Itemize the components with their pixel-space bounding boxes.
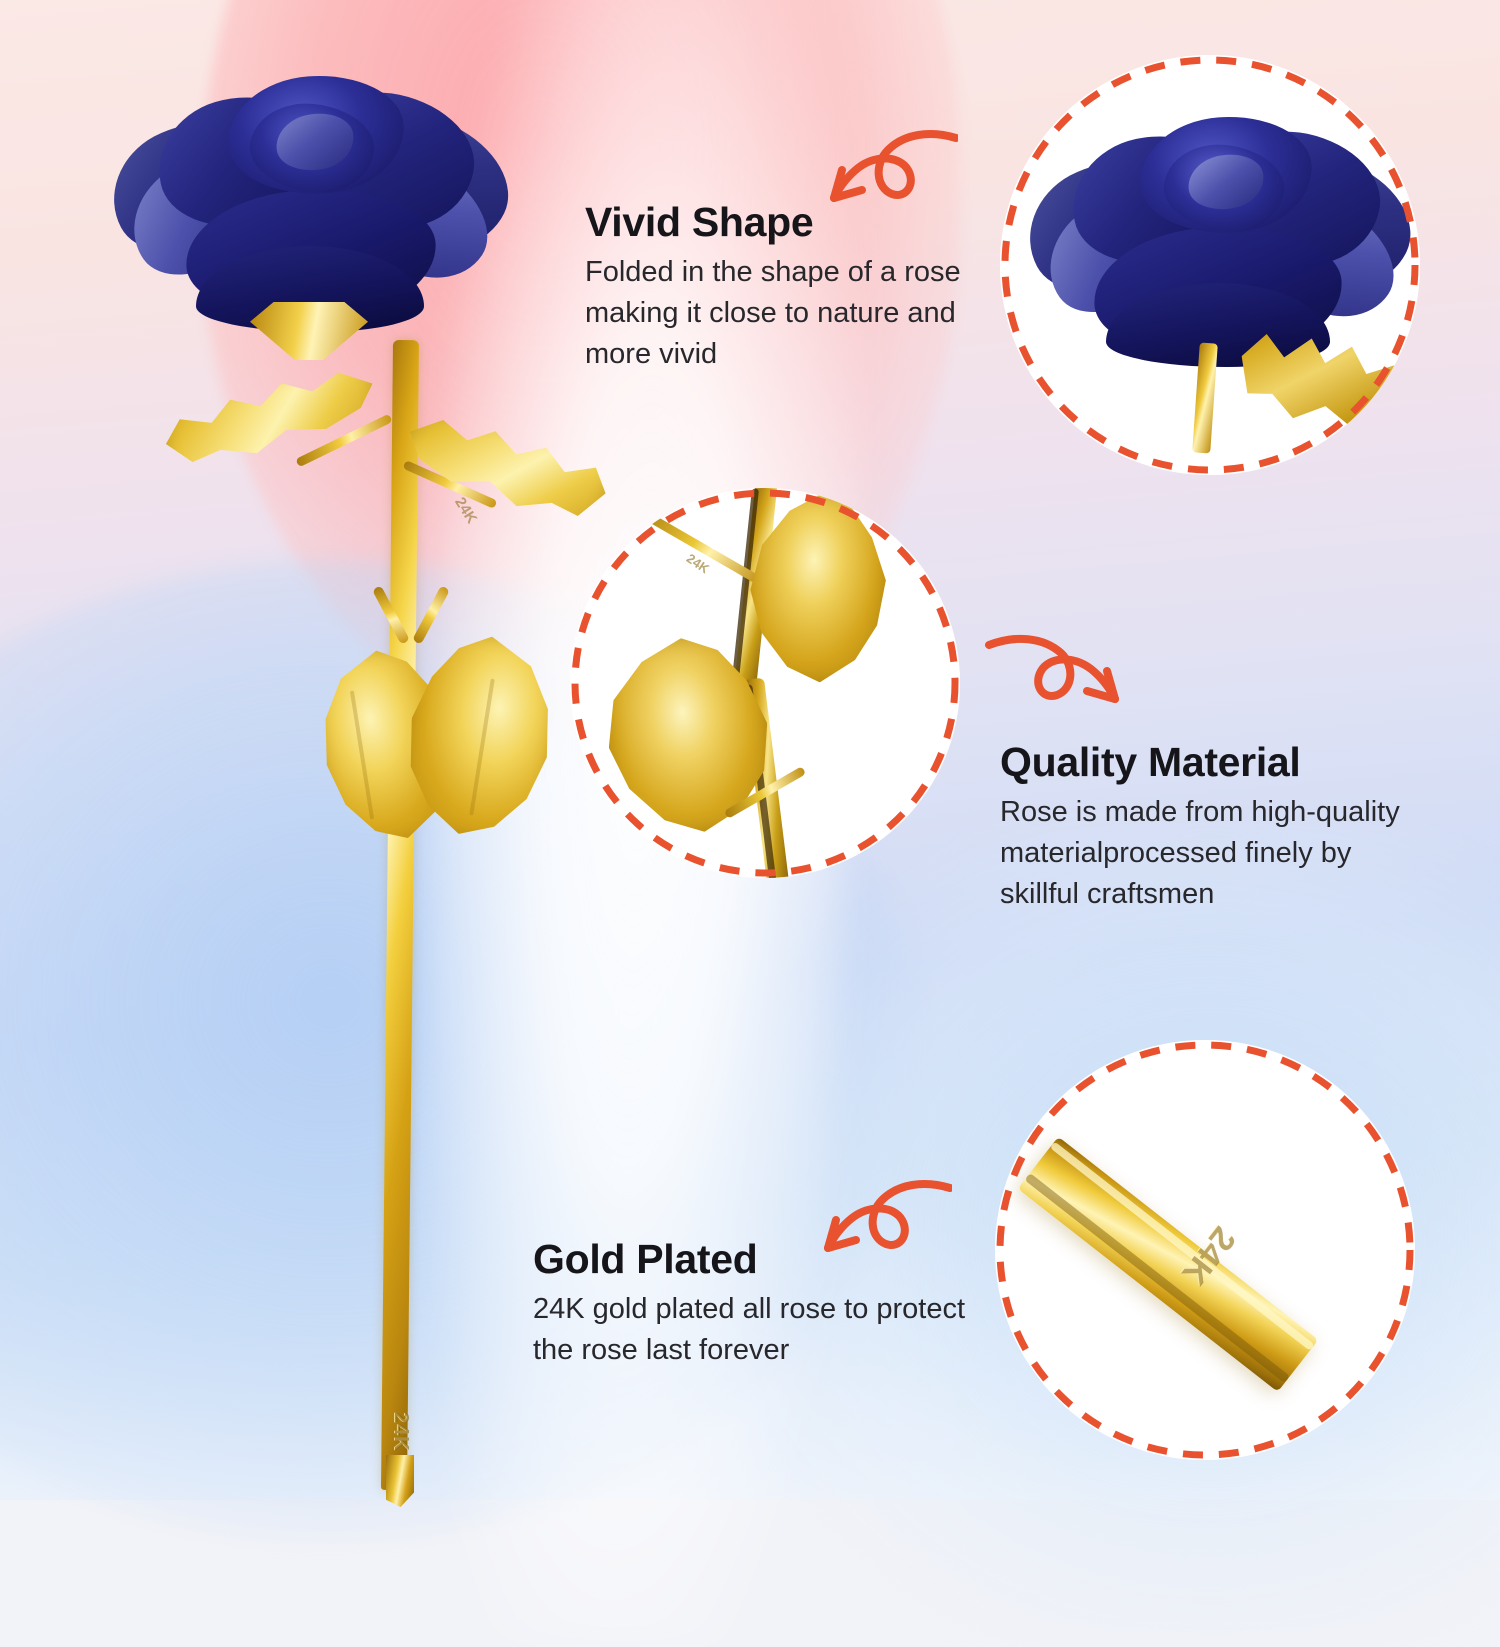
main-product-rose: 24K 24K [60,50,580,1490]
feature-block-quality-material: Quality Material Rose is made from high-… [1000,740,1430,915]
stem-24k-stamp: 24K [390,1402,412,1462]
feature-desc-gold-plated: 24K gold plated all rose to protect the … [533,1289,1003,1371]
curl-arrow-down-left-icon-3 [812,1178,952,1288]
curl-arrow-down-left-icon-1 [818,128,958,238]
feature-desc-vivid-shape: Folded in the shape of a rose making it … [585,252,985,376]
rose-stem [381,340,419,1490]
detail-circle-quality-material: 24K [570,488,960,878]
rose-sepal-gold [250,302,368,360]
closeup-bloom [1022,115,1406,365]
feature-title-quality-material: Quality Material [1000,740,1430,786]
detail-circle-gold-plated: 24K [995,1040,1415,1460]
detail-image-gold-leaves: 24K [570,488,960,878]
detail-circle-vivid-shape [1000,55,1420,475]
feature-desc-quality-material: Rose is made from high-quality materialp… [1000,792,1430,916]
rose-leaf-upper-left [157,355,386,490]
detail-image-gold-stem-bar: 24K [995,1040,1415,1460]
rose-bloom [100,70,520,340]
curl-arrow-down-right-icon-2 [985,625,1130,740]
detail-image-rose-bloom [1000,55,1420,475]
rose-branch-lower-right [412,585,450,644]
